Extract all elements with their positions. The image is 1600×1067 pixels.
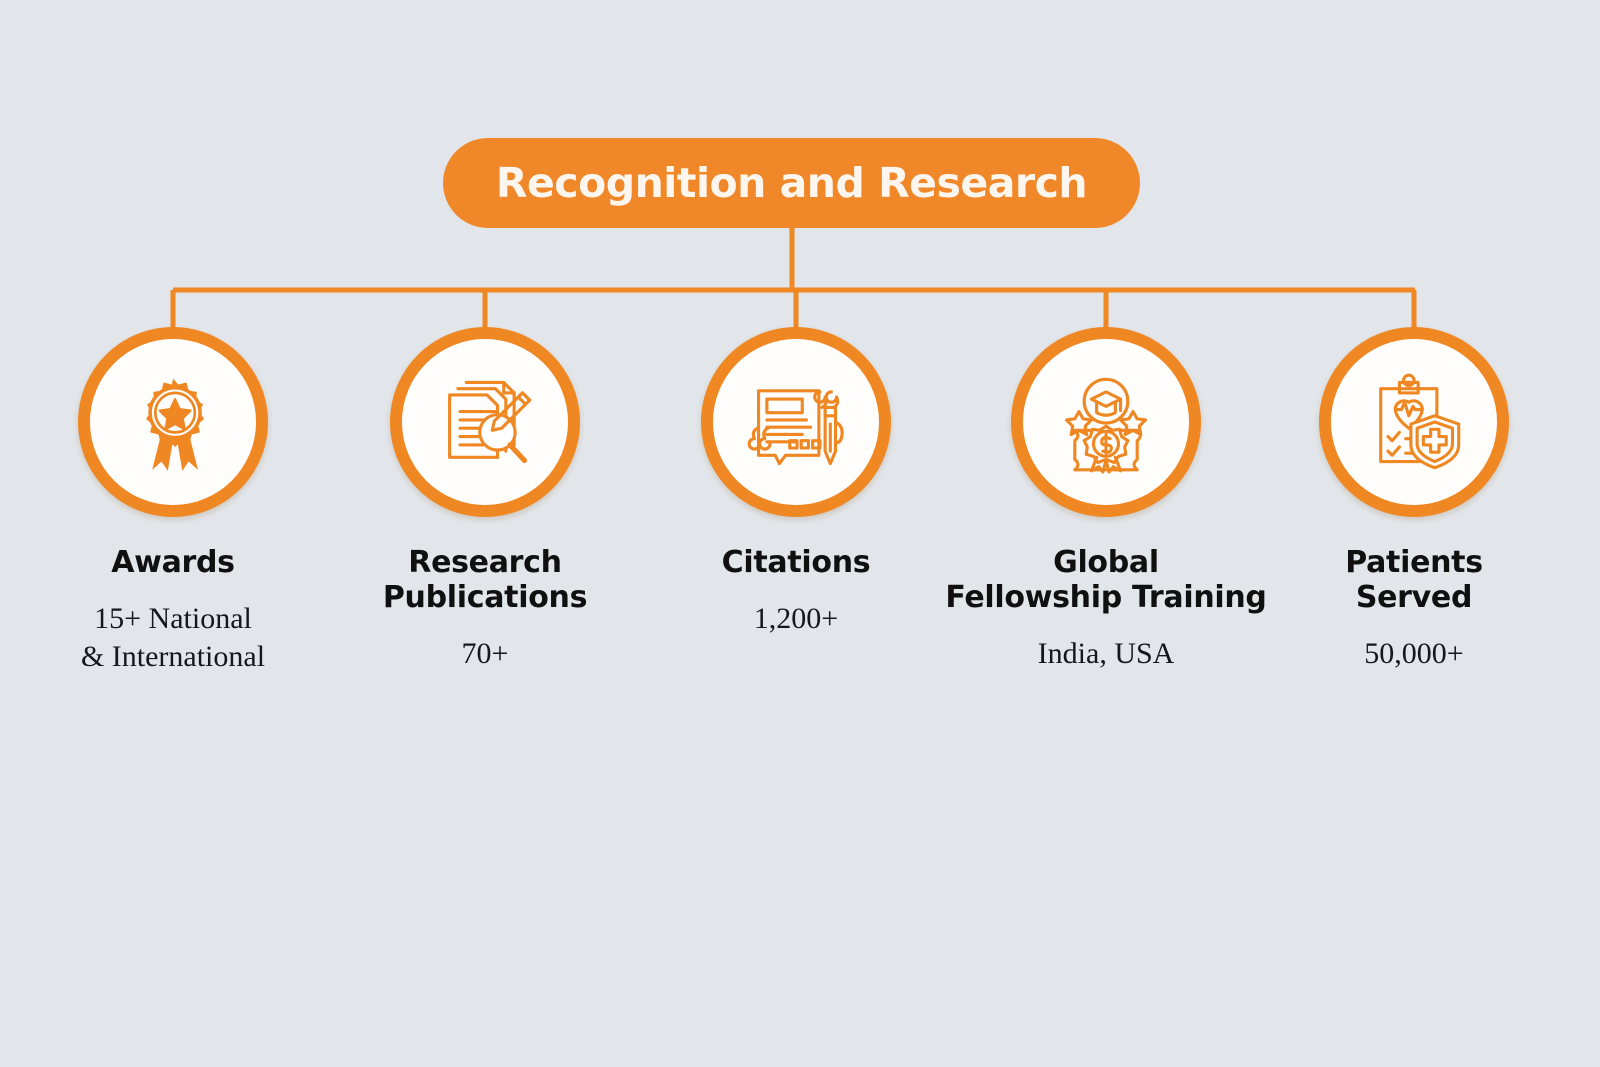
node-circle-inner [402,339,568,505]
node-circle-citations[interactable] [701,327,891,517]
node-circle-inner [1331,339,1497,505]
node-label-awards: Awards [111,545,235,580]
node-circle-inner [90,339,256,505]
award-ribbon-icon [121,370,225,474]
node-value-patients-served: 50,000+ [1364,635,1463,673]
node-label-research-publications: Research Publications [383,545,587,615]
node-circle-inner [713,339,879,505]
node-value-research-publications: 70+ [462,635,509,673]
node-value-citations: 1,200+ [754,600,838,638]
node-awards[interactable]: Awards 15+ National & International [43,327,303,675]
node-circle-inner [1023,339,1189,505]
document-search-icon [433,370,537,474]
scholarship-diploma-icon [1054,370,1158,474]
node-value-global-fellowship-training: India, USA [1038,635,1175,673]
node-circle-patients-served[interactable] [1319,327,1509,517]
citation-document-pen-icon [744,370,848,474]
page-title: Recognition and Research [496,159,1087,207]
node-circle-global-fellowship-training[interactable] [1011,327,1201,517]
node-circle-research-publications[interactable] [390,327,580,517]
node-label-citations: Citations [722,545,871,580]
node-research-publications[interactable]: Research Publications 70+ [355,327,615,673]
node-value-awards: 15+ National & International [81,600,265,675]
medical-clipboard-shield-icon [1362,370,1466,474]
node-global-fellowship-training[interactable]: Global Fellowship Training India, USA [906,327,1306,673]
node-patients-served[interactable]: Patients Served 50,000+ [1284,327,1544,673]
node-label-patients-served: Patients Served [1345,545,1483,615]
node-citations[interactable]: Citations 1,200+ [666,327,926,638]
node-label-global-fellowship-training: Global Fellowship Training [945,545,1266,615]
infographic-canvas: Recognition and Research [0,0,1600,1067]
node-circle-awards[interactable] [78,327,268,517]
diagram-title-pill: Recognition and Research [443,138,1140,228]
